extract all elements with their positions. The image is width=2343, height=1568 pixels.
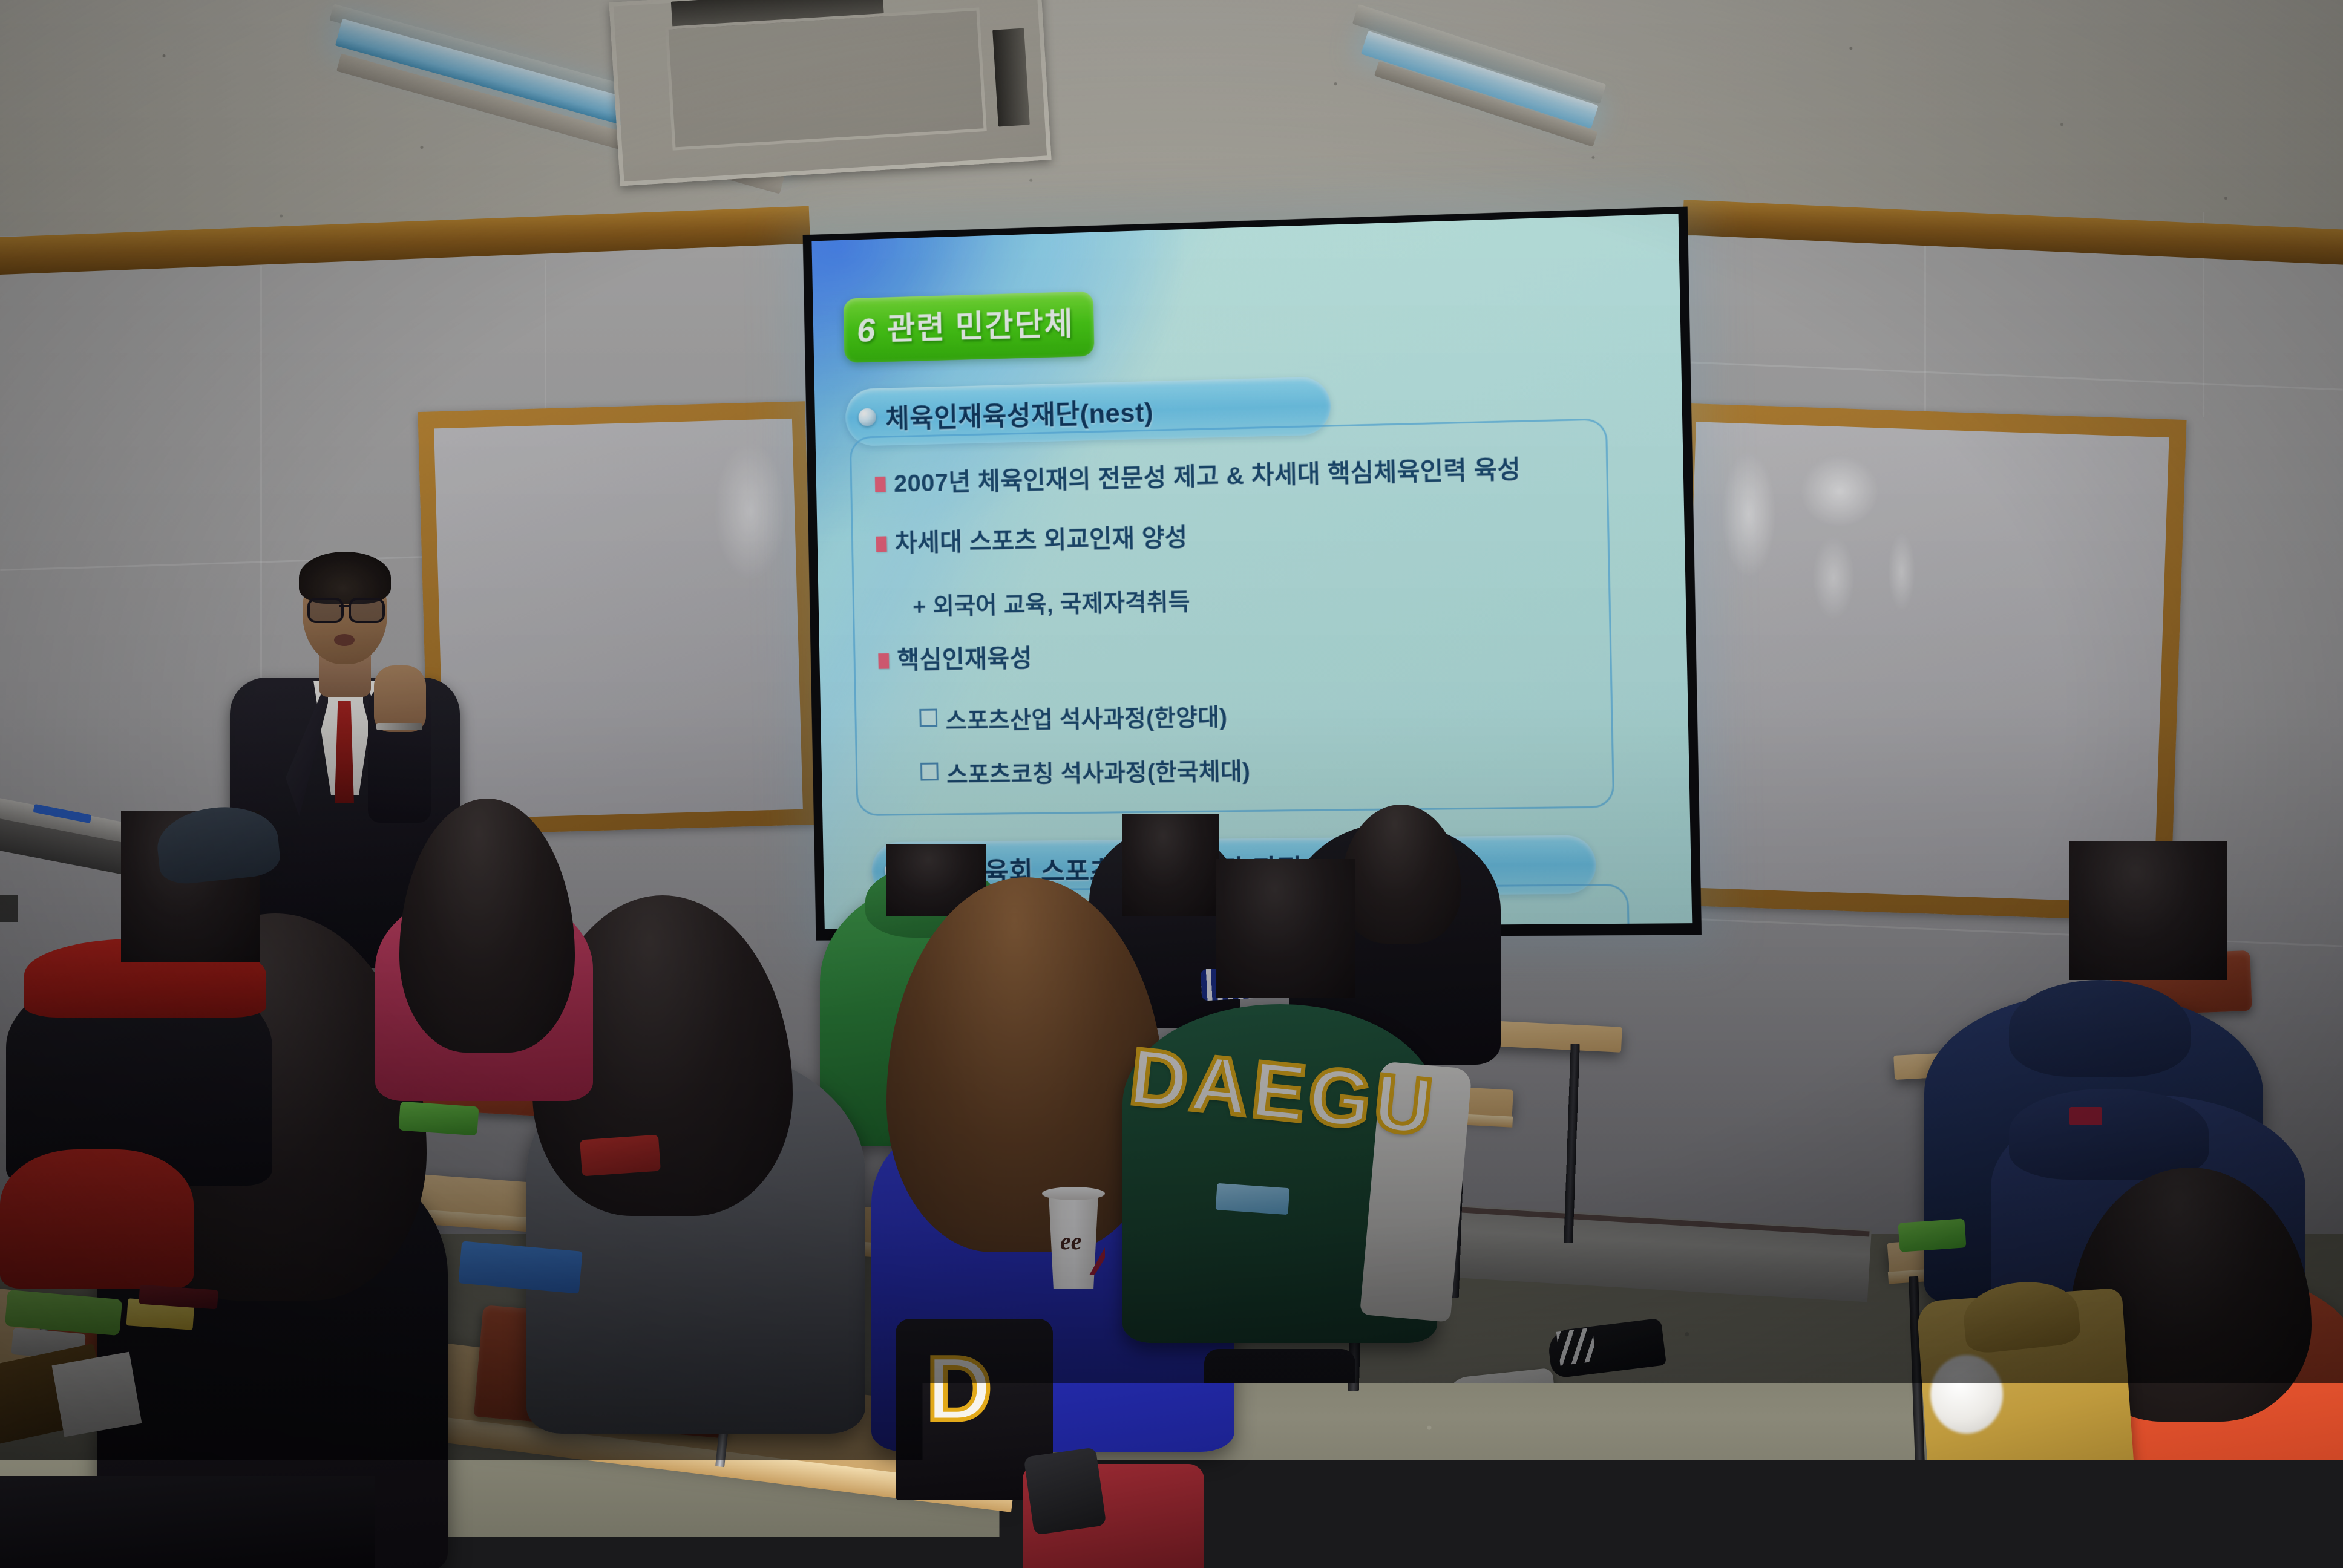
slide-subbullet-text: + 외국어 교육, 국제자격취득 (913, 589, 1190, 620)
sneaker-stripe (1556, 1328, 1596, 1366)
slide-title-banner: 6 관련 민간단체 (844, 291, 1095, 363)
wall-seam (545, 260, 546, 417)
presenter-mouth (334, 634, 355, 646)
puffer-hood (2009, 980, 2191, 1077)
slide-title-text: 관련 민간단체 (886, 309, 1074, 345)
podium-bracket (0, 895, 18, 922)
student-hair (1216, 859, 1355, 998)
student-legs (1392, 1416, 1597, 1568)
bullet-square-icon (875, 477, 886, 492)
student-legs (0, 1476, 375, 1568)
red-jacket-body (0, 1149, 194, 1289)
puffer-hood (2009, 1089, 2209, 1180)
bullet-square-icon (876, 536, 887, 552)
slide-section-1-heading: 체육인재육성재단(nest) (885, 391, 1154, 436)
slide-checkbox-item: 스포츠코칭 석사과정(한국체대) (920, 753, 1251, 790)
glasses-bridge-icon (339, 605, 350, 607)
jacket-letter-patch: D (926, 1340, 992, 1437)
ac-panel (665, 7, 987, 150)
hoodie-logo-patch (580, 1135, 661, 1177)
bullet-square-icon (878, 653, 889, 669)
slide-checkbox-text: 스포츠코칭 석사과정(한국체대) (946, 753, 1251, 790)
slide-title-number: 6 (856, 313, 875, 347)
wall-seam (1924, 218, 1926, 417)
ac-vent-side-icon (992, 28, 1030, 127)
whiteboard-glare (1800, 455, 1879, 528)
wristwatch (376, 723, 422, 730)
pencil-case (398, 1102, 479, 1136)
slide-bullet: 핵심인재육성 (878, 645, 1032, 674)
presenter-hand (374, 665, 426, 732)
slide-checkbox-text: 스포츠산업 석사과정(한양대) (945, 698, 1228, 736)
projected-slide: 6 관련 민간단체 체육인재육성재단(nest) 2007년 체육인재의 전문성… (811, 214, 1692, 929)
paper-sheet (52, 1352, 142, 1437)
presenter-hair (299, 552, 391, 604)
bullet-sphere-icon (858, 408, 876, 426)
student-hair (1122, 814, 1219, 916)
pencil-case (1898, 1218, 1966, 1252)
slide-bullet-text: 차세대 스포츠 외교인재 양성 (895, 524, 1188, 557)
checkbox-icon (919, 709, 937, 727)
checkbox-icon (920, 763, 939, 781)
notebook (1216, 1183, 1290, 1215)
glasses-icon (307, 598, 344, 623)
slide-checkbox-item: 스포츠산업 석사과정(한양대) (919, 698, 1228, 736)
whiteboard-glare (1888, 532, 1915, 611)
glasses-icon (349, 598, 385, 623)
classroom-photo: 6 관련 민간단체 체육인재육성재단(nest) 2007년 체육인재의 전문성… (0, 0, 2343, 1568)
coffee-cup-text: ee (1060, 1229, 1088, 1252)
whiteboard-glare (1812, 535, 1855, 620)
whiteboard-glare (1722, 451, 1776, 578)
fur-trim (1930, 1355, 2003, 1434)
backpack-strap (1024, 1447, 1107, 1535)
slide-subbullet: + 외국어 교육, 국제자격취득 (913, 583, 1190, 622)
slide-bullet-text: 핵심인재육성 (897, 645, 1032, 673)
jacket-logo-tag (2069, 1107, 2102, 1125)
slide-bullet: 차세대 스포츠 외교인재 양성 (876, 524, 1187, 557)
student-legs (1204, 1349, 1355, 1568)
whiteboard-glare (714, 442, 787, 581)
student-hair (2069, 841, 2227, 980)
